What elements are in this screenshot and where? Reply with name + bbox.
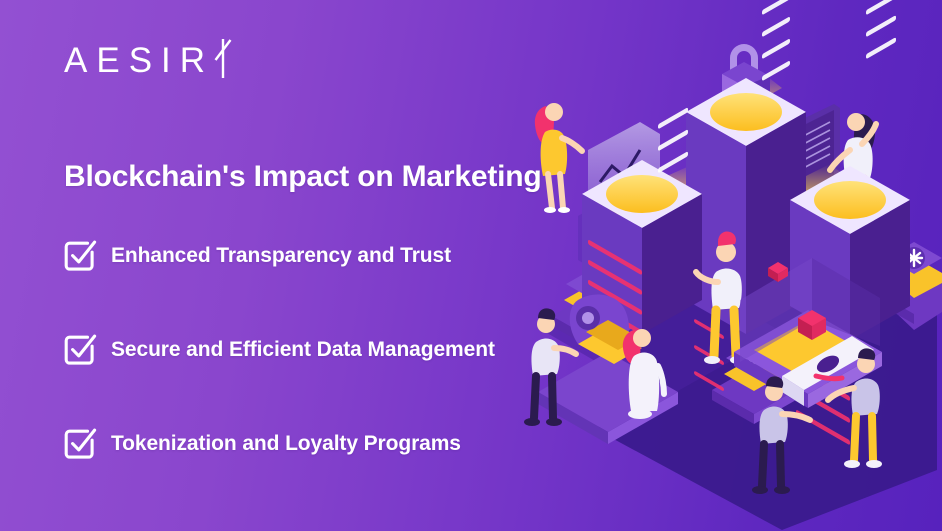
coin-token-small xyxy=(768,262,788,282)
slide-canvas: AESIR Blockchain's Impact on Marketing E… xyxy=(0,0,942,531)
server-stack-left xyxy=(582,107,702,335)
fan-node-right xyxy=(872,242,942,330)
list-item-label: Enhanced Transparency and Trust xyxy=(111,244,451,268)
padlock-icon xyxy=(722,44,770,114)
checkbox-checked-icon xyxy=(63,239,97,273)
list-item: Secure and Efficient Data Management xyxy=(63,327,583,373)
light-beams xyxy=(658,74,848,198)
person-standing-right xyxy=(623,329,664,419)
list-item: Tokenization and Loyalty Programs xyxy=(63,421,583,467)
brand-wordmark: AESIR xyxy=(64,38,214,84)
list-item-label: Secure and Efficient Data Management xyxy=(111,338,495,362)
list-item-label: Tokenization and Loyalty Programs xyxy=(111,432,461,456)
token-platform xyxy=(734,258,882,408)
person-at-desktop-computer xyxy=(768,104,898,262)
checkbox-checked-icon xyxy=(63,427,97,461)
fan-node-front xyxy=(712,342,796,424)
people-holding-document-card xyxy=(752,336,882,494)
checkbox-checked-icon xyxy=(63,333,97,367)
floor-plane xyxy=(542,222,937,530)
list-item: Enhanced Transparency and Trust xyxy=(63,233,583,279)
page-title: Blockchain's Impact on Marketing xyxy=(64,158,542,196)
person-at-server-stack xyxy=(696,231,746,364)
server-stack-center xyxy=(686,0,806,392)
coin-token xyxy=(798,310,826,340)
bullet-list: Enhanced Transparency and Trust Secure a… xyxy=(63,233,583,467)
aesir-rune-icon xyxy=(212,38,234,84)
brand-logo[interactable]: AESIR xyxy=(64,38,234,84)
server-stack-right xyxy=(790,0,910,445)
